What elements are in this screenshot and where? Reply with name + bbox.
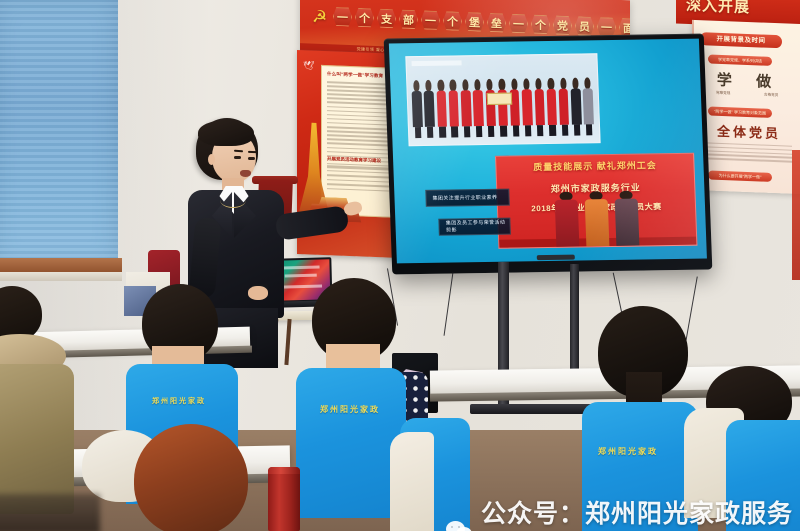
presenter-hair-front [198,120,254,146]
poster-top-right-title: 深入开展 [686,0,750,17]
presenter-eye [234,156,241,159]
presenter-eye [248,157,255,160]
presenter-necklace [220,192,246,208]
presenter-hand-left [248,286,268,300]
poster-right-big-line: 学 做 [694,68,800,93]
slogan-char: 个 [355,8,374,28]
poster-right-paragraph [706,142,792,164]
presenter-mouth [240,170,251,177]
training-room-photo: ☭ 一 个 支 部 一 个 堡 垒 一 个 党 员 一 面 旗 帜 党建引领 凝… [0,0,800,531]
poster-right-section-label: 开展背景及时间 [700,32,782,48]
slogan-char: 一 [333,7,352,27]
slide-photo-group [405,53,601,146]
slogan-char: 个 [443,11,462,31]
cream-sleeve [390,432,434,531]
presenter-ear [208,154,215,165]
right-wall-board [792,150,800,280]
slogan-char: 一 [597,17,616,37]
award-certificate [487,93,512,105]
slogan-char: 垒 [487,13,506,33]
tv-brand-bar [536,255,574,261]
window-blind [0,0,118,268]
slide-bullet-2: 集团及员工参与荣誉活动剪影 [439,218,511,236]
slide-photo-watermark [412,60,462,66]
slogan-char: 一 [509,14,528,34]
wechat-watermark: 公众号：郑州阳光家政服务公司 [446,495,800,531]
ceremony-people [553,189,641,246]
poster-right-sub-left: 党章党规 [716,91,730,97]
red-thermos-cup[interactable] [268,467,300,531]
slogan-char: 堡 [465,12,484,32]
tv-screen[interactable]: 质量技能展示 献礼郑州工会 郑州市家政服务行业 2018年度职业技能家政服务员大… [389,39,707,264]
poster-right-sub-right: 合格党员 [764,93,778,99]
presenter-arm-right [275,205,350,241]
slide-bullet-1: 集团关注提升行业职业素养 [425,189,509,207]
attendee-hair [134,424,248,531]
presenter-brow [248,151,257,153]
poster-right-big-line2: 全体党员 [694,120,800,143]
presentation-tv[interactable]: 质量技能展示 献礼郑州工会 郑州市家政服务行业 2018年度职业技能家政服务员大… [384,34,713,275]
slogan-char: 一 [421,10,440,30]
slogan-char: 党 [553,15,572,35]
slogan-char: 部 [399,9,418,29]
attendee-red-hair [88,424,248,531]
ceremony-banner-line1: 质量技能展示 献礼郑州工会 [497,158,694,174]
poster-right-tag1: 学党章党规、学系列讲话 [708,54,772,65]
vest-text: 郑州阳光家政 [320,404,380,415]
doves-icon: 🕊 [303,60,314,71]
vest-text: 郑州阳光家政 [598,446,658,457]
slogan-char: 员 [575,16,594,36]
vest-text: 郑州阳光家政 [152,396,206,406]
slogan-char: 个 [531,15,550,35]
wechat-icon [446,520,473,531]
khaki-coat [0,364,74,514]
slogan-char: 支 [377,9,396,29]
watermark-text: 公众号：郑州阳光家政服务公司 [481,494,800,531]
slide-photo-ceremony: 质量技能展示 献礼郑州工会 郑州市家政服务行业 2018年度职业技能家政服务员大… [495,153,697,248]
poster-right-tag2: "两学一做" 学习教育对象范围 [708,106,772,117]
hammer-sickle-icon: ☭ [312,8,327,26]
window-sill-lower [0,272,122,281]
group-photo-people [411,77,596,138]
poster-right-tag3: 为什么要开展"两学一做" [708,170,772,181]
foreground-blur [0,494,100,531]
